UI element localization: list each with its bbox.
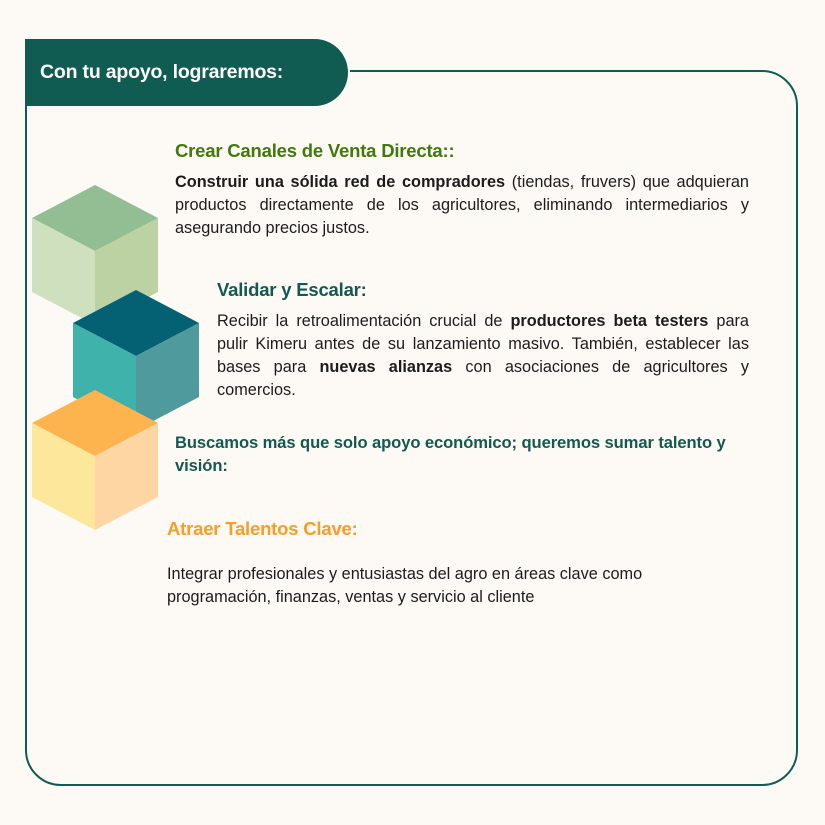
body-bold-2: nuevas alianzas bbox=[319, 358, 452, 376]
section-validar-escalar: Validar y Escalar: Recibir la retroalime… bbox=[217, 279, 749, 403]
note-text: Buscamos más que solo apoyo económico; q… bbox=[175, 432, 749, 477]
section-body-validar-escalar: Recibir la retroalimentación crucial de … bbox=[217, 310, 749, 403]
section-crear-canales: Crear Canales de Venta Directa:: Constru… bbox=[175, 140, 749, 241]
section-heading-validar-escalar: Validar y Escalar: bbox=[217, 279, 749, 301]
section-atraer-talentos: Atraer Talentos Clave: Integrar profesio… bbox=[167, 518, 749, 609]
content-column: Crear Canales de Venta Directa:: Constru… bbox=[167, 140, 749, 614]
body-lead-bold: Construir una sólida red de compradores bbox=[175, 173, 505, 191]
spacer-3 bbox=[167, 481, 749, 518]
spacer-1 bbox=[167, 245, 749, 279]
banner-title: Con tu apoyo, lograremos: bbox=[25, 61, 283, 84]
header-banner: Con tu apoyo, lograremos: bbox=[25, 39, 348, 106]
note-block: Buscamos más que solo apoyo económico; q… bbox=[175, 432, 749, 477]
section-body-crear-canales: Construir una sólida red de compradores … bbox=[175, 171, 749, 240]
body-bold-1: productores beta testers bbox=[510, 312, 708, 330]
section-heading-atraer-talentos: Atraer Talentos Clave: bbox=[167, 518, 749, 540]
spacer-4 bbox=[167, 549, 749, 563]
section-body-atraer-talentos: Integrar profesionales y entusiastas del… bbox=[167, 563, 749, 609]
spacer-2 bbox=[167, 406, 749, 432]
body-part-1: Recibir la retroalimentación crucial de bbox=[217, 312, 510, 330]
section-heading-crear-canales: Crear Canales de Venta Directa:: bbox=[175, 140, 749, 162]
slide-canvas: Con tu apoyo, lograremos: bbox=[0, 0, 825, 825]
